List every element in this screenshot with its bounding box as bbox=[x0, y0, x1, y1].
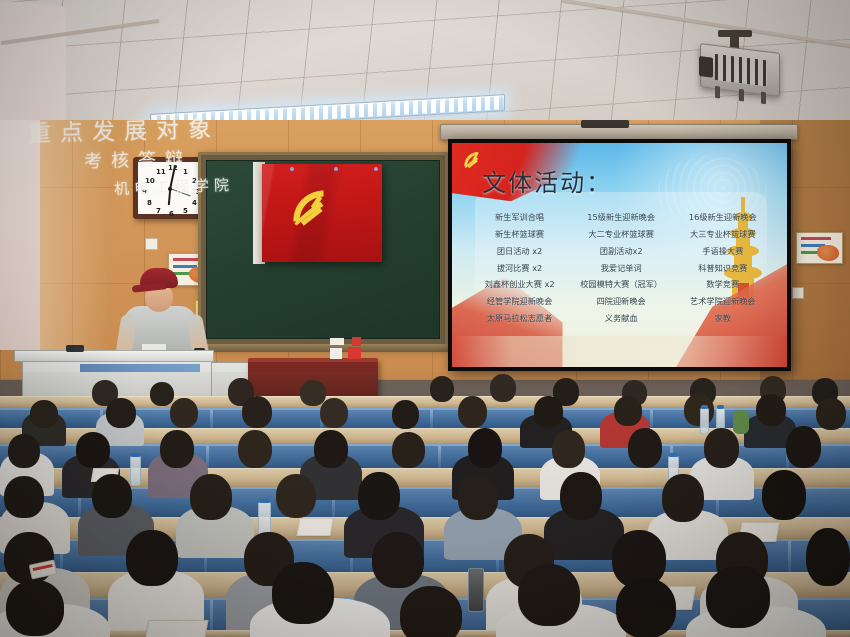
person-head bbox=[392, 432, 425, 468]
slide-activity-item: 团日活动 x2 bbox=[469, 244, 571, 259]
person-head bbox=[272, 562, 334, 624]
person-head bbox=[276, 474, 316, 518]
audience-seating-area bbox=[0, 372, 850, 637]
person-head bbox=[400, 586, 462, 637]
person-head bbox=[238, 430, 272, 468]
person-head bbox=[314, 430, 348, 468]
person-head bbox=[458, 476, 498, 520]
chalk-tray bbox=[198, 344, 448, 352]
notebook bbox=[296, 518, 333, 536]
person-head bbox=[92, 474, 132, 518]
person-head bbox=[704, 428, 739, 468]
person-head bbox=[190, 474, 232, 520]
slide-activity-item: 数学竞赛 bbox=[672, 277, 774, 292]
slide-activity-item: 刘鑫杯创业大赛 x2 bbox=[469, 277, 571, 292]
clock-numeral: 8 bbox=[147, 199, 152, 207]
slide-activity-item: 四院迎新晚会 bbox=[570, 294, 672, 309]
slide-activity-item: 拔河比赛 x2 bbox=[469, 261, 571, 276]
ceiling-camera bbox=[581, 120, 629, 128]
person-head bbox=[628, 428, 662, 468]
tumbler bbox=[468, 568, 484, 612]
hammer-and-sickle-icon bbox=[282, 182, 338, 234]
projector-screen-housing bbox=[440, 124, 798, 140]
person-head bbox=[392, 400, 419, 429]
person-head bbox=[786, 426, 821, 468]
slide-activity-item: 新生军训合唱 bbox=[469, 210, 571, 225]
presentation-slide: 文体活动： 新生军训合唱 15级新生迎新晚会 16级新生迎新晚会 新生杯篮球赛 … bbox=[452, 143, 787, 367]
chalkboard-line-3: 机电工程学院 bbox=[114, 174, 235, 199]
person-head bbox=[372, 532, 424, 588]
projection-screen: 文体活动： 新生军训合唱 15级新生迎新晚会 16级新生迎新晚会 新生杯篮球赛 … bbox=[448, 139, 791, 371]
person-head bbox=[518, 564, 580, 626]
person-head bbox=[8, 434, 40, 468]
slide-activity-item: 科普知识竞赛 bbox=[672, 261, 774, 276]
person-head bbox=[300, 380, 326, 406]
projector-lens bbox=[699, 56, 713, 78]
safety-notice-poster bbox=[796, 232, 843, 264]
light-switch[interactable] bbox=[145, 238, 158, 250]
person-head bbox=[242, 396, 272, 428]
slide-activity-item: 16级新生迎新晚会 bbox=[672, 210, 774, 225]
person-head bbox=[816, 398, 846, 430]
slide-activity-item: 太原马拉松志愿者 bbox=[469, 311, 571, 326]
tumbler bbox=[733, 410, 749, 434]
person-head bbox=[76, 432, 110, 468]
slide-activity-item: 手语操大赛 bbox=[672, 244, 774, 259]
person-head bbox=[160, 430, 194, 468]
person-head bbox=[806, 528, 850, 586]
slide-activity-item: 新生杯篮球赛 bbox=[469, 227, 571, 242]
clock-numeral: 4 bbox=[192, 199, 197, 207]
communist-party-flag bbox=[262, 164, 382, 262]
person-head bbox=[458, 396, 487, 428]
person-head bbox=[468, 428, 502, 468]
person-head bbox=[762, 470, 806, 520]
person-head bbox=[358, 472, 400, 520]
chalk-stick bbox=[330, 338, 344, 345]
slide-activity-grid: 新生军训合唱 15级新生迎新晚会 16级新生迎新晚会 新生杯篮球赛 大二专业杯篮… bbox=[469, 210, 774, 353]
light-switch[interactable] bbox=[792, 287, 804, 299]
red-chalk bbox=[352, 337, 361, 346]
chalkboard-line-1: 重点发展对象 bbox=[28, 109, 221, 148]
slide-activity-item: 义务献血 bbox=[570, 311, 672, 326]
slide-activity-item: 艺术学院迎新晚会 bbox=[672, 294, 774, 309]
person-head bbox=[6, 580, 64, 636]
slide-activity-item: 团副活动x2 bbox=[570, 244, 672, 259]
water-bottle bbox=[700, 408, 709, 434]
slide-activity-item: 家教 bbox=[672, 311, 774, 326]
remote-control[interactable] bbox=[66, 345, 84, 352]
person-head bbox=[150, 382, 174, 406]
person-head bbox=[30, 400, 58, 428]
left-side-wall bbox=[0, 120, 40, 350]
notebook bbox=[144, 620, 209, 637]
slide-activity-item: 大二专业杯篮球赛 bbox=[570, 227, 672, 242]
slide-activity-item: 我爱记单词 bbox=[570, 261, 672, 276]
slide-activity-item: 15级新生迎新晚会 bbox=[570, 210, 672, 225]
person-head bbox=[662, 474, 704, 522]
white-box bbox=[330, 348, 342, 359]
person-head bbox=[534, 396, 563, 428]
person-head bbox=[106, 398, 136, 428]
person-head bbox=[170, 398, 198, 428]
lectern-worktop bbox=[14, 350, 214, 362]
clock-numeral: 7 bbox=[156, 207, 161, 215]
lectern-control-panel bbox=[80, 364, 200, 372]
slide-activity-item: 经管学院迎新晚会 bbox=[469, 294, 571, 309]
lecture-hall-photo: 12 1 2 3 4 5 6 7 8 9 10 11 重点发展对象 考核答辩 机… bbox=[0, 0, 850, 637]
person-head bbox=[684, 394, 714, 426]
projector-vents bbox=[715, 54, 767, 86]
slide-activity-item: 大三专业杯篮球赛 bbox=[672, 227, 774, 242]
person-head bbox=[616, 578, 676, 637]
person-head bbox=[490, 374, 516, 402]
person-head bbox=[430, 376, 454, 402]
clock-numeral: 6 bbox=[169, 210, 174, 218]
person-head bbox=[756, 394, 786, 426]
person-head bbox=[4, 476, 44, 518]
clock-numeral: 5 bbox=[183, 207, 188, 215]
chalkboard-line-2: 考核答辩 bbox=[84, 145, 193, 174]
person-head bbox=[560, 472, 602, 520]
person-head bbox=[552, 430, 585, 468]
water-bottle bbox=[130, 456, 141, 486]
person-head bbox=[126, 530, 178, 586]
slide-title: 文体活动： bbox=[482, 163, 612, 198]
person-head bbox=[320, 398, 348, 428]
slide-activity-item: 校园模特大赛（冠军） bbox=[570, 277, 672, 292]
person-head bbox=[614, 396, 642, 426]
person-head bbox=[706, 566, 770, 628]
red-box bbox=[348, 347, 361, 359]
